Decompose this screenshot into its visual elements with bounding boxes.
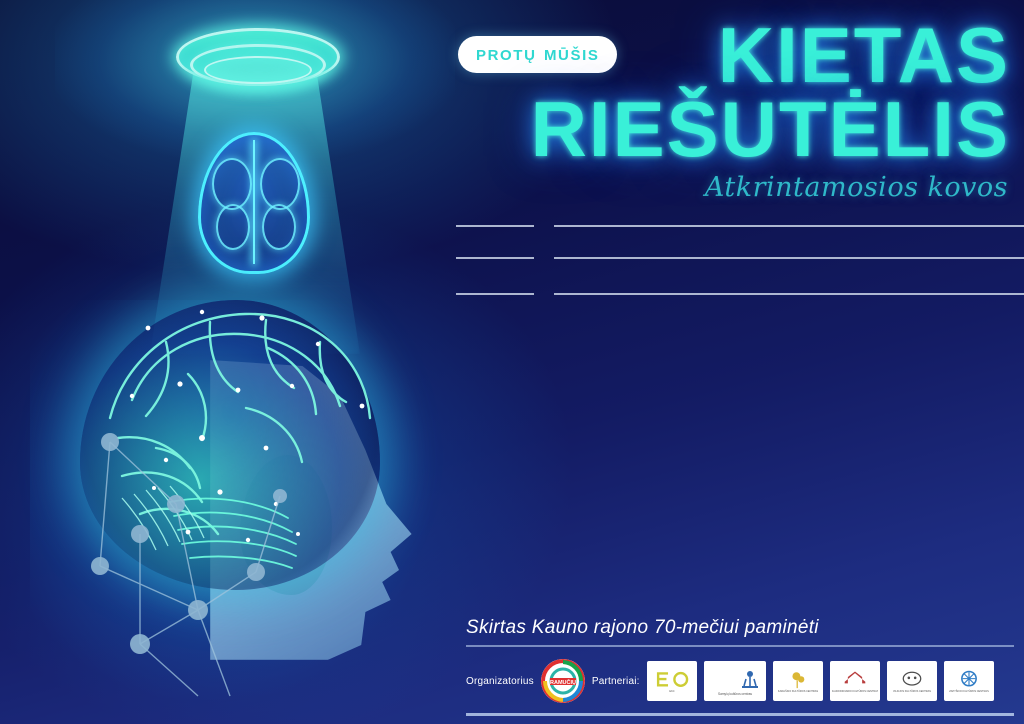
footer-divider-bottom: [466, 713, 1014, 716]
date-rule-left: [456, 293, 534, 295]
organizer-label: Organizatorius: [466, 676, 534, 687]
raudondvario-kulturos-centras-logo: RAUDONDVARIO KULTŪROS CENTRAS: [830, 661, 880, 701]
poster-title-line2: RIEŠUTĖLIS: [531, 92, 1010, 167]
date-rule-right: [554, 257, 1024, 259]
schedule-list: [448, 215, 1024, 309]
event-list: [448, 265, 1024, 277]
poster-content: Protų mūšis KIETAS RIEŠUTĖLIS Atkrintamo…: [448, 0, 1024, 724]
svg-text:VILKIJOS KULTŪROS CENTRAS: VILKIJOS KULTŪROS CENTRAS: [893, 690, 931, 693]
title-block: Protų mūšis KIETAS RIEŠUTĖLIS Atkrintamo…: [448, 0, 1024, 215]
poster-footer: Skirtas Kauno rajono 70-mečiui paminėti …: [466, 617, 1014, 716]
poster-title-line1: KIETAS: [718, 18, 1010, 93]
logo-row: Organizatorius RAMUČIŲ Partneriai: EKCSa…: [466, 659, 1014, 703]
svg-text:Samylų kultūros centras: Samylų kultūros centras: [718, 692, 752, 696]
event-row: [448, 305, 1024, 309]
event-row: [448, 237, 1024, 241]
karlisko-kulturos-centras-logo: KARLIŠKIO KULTŪROS CENTRAS: [773, 661, 823, 701]
event-list: [448, 301, 1024, 309]
lamp-ring-inner: [204, 56, 312, 84]
event-row: [448, 273, 1024, 277]
date-rule-left: [456, 257, 534, 259]
protu-musis-badge: Protų mūšis: [458, 36, 617, 73]
svg-text:RAMUČIŲ: RAMUČIŲ: [550, 679, 576, 686]
event-list: [448, 233, 1024, 241]
walnut-seam: [253, 140, 255, 264]
samylu-kulturos-centras-logo: Samylų kultūros centras: [704, 661, 766, 701]
poster-subtitle: Atkrintamosios kovos: [705, 172, 1008, 203]
partners-label: Partneriai:: [592, 676, 640, 687]
walnut-lobe-left-top: [212, 158, 252, 210]
schedule-day-header: [448, 225, 1024, 227]
walnut-lobe-right-top: [260, 158, 300, 210]
svg-text:KARLIŠKIO KULTŪROS CENTRAS: KARLIŠKIO KULTŪROS CENTRAS: [778, 690, 819, 693]
svg-text:EKC: EKC: [669, 690, 674, 693]
brain-artwork: [0, 0, 460, 724]
walnut-lobe-right-bottom: [262, 204, 296, 250]
date-rule-right: [554, 225, 1024, 227]
partner-logos: EKCSamylų kultūros centrasKARLIŠKIO KULT…: [647, 661, 994, 701]
ramuciu-organizer-logo: RAMUČIŲ: [541, 659, 585, 703]
schedule-day-group: [448, 225, 1024, 241]
footer-divider-top: [466, 645, 1014, 647]
schedule-day-header: [448, 293, 1024, 295]
vilkijos-kulturos-centras-logo: VILKIJOS KULTŪROS CENTRAS: [887, 661, 937, 701]
schedule-day-group: [448, 293, 1024, 309]
ekc-logo: EKC: [647, 661, 697, 701]
date-rule-right: [554, 293, 1024, 295]
poster-root: Protų mūšis KIETAS RIEŠUTĖLIS Atkrintamo…: [0, 0, 1024, 724]
anniversary-tagline: Skirtas Kauno rajono 70-mečiui paminėti: [466, 617, 1014, 645]
date-rule-left: [456, 225, 534, 227]
walnut-brain-icon: [198, 132, 310, 274]
neural-network-svg: [80, 400, 420, 700]
walnut-lobe-left-bottom: [216, 204, 250, 250]
schedule-day-group: [448, 257, 1024, 277]
schedule-day-header: [448, 257, 1024, 259]
svg-text:RAUDONDVARIO KULTŪROS CENTRAS: RAUDONDVARIO KULTŪROS CENTRAS: [832, 690, 878, 693]
zapyskio-kulturos-centras-logo: ZAPYŠKIO KULTŪROS CENTRAS: [944, 661, 994, 701]
svg-text:ZAPYŠKIO KULTŪROS CENTRAS: ZAPYŠKIO KULTŪROS CENTRAS: [949, 690, 989, 693]
